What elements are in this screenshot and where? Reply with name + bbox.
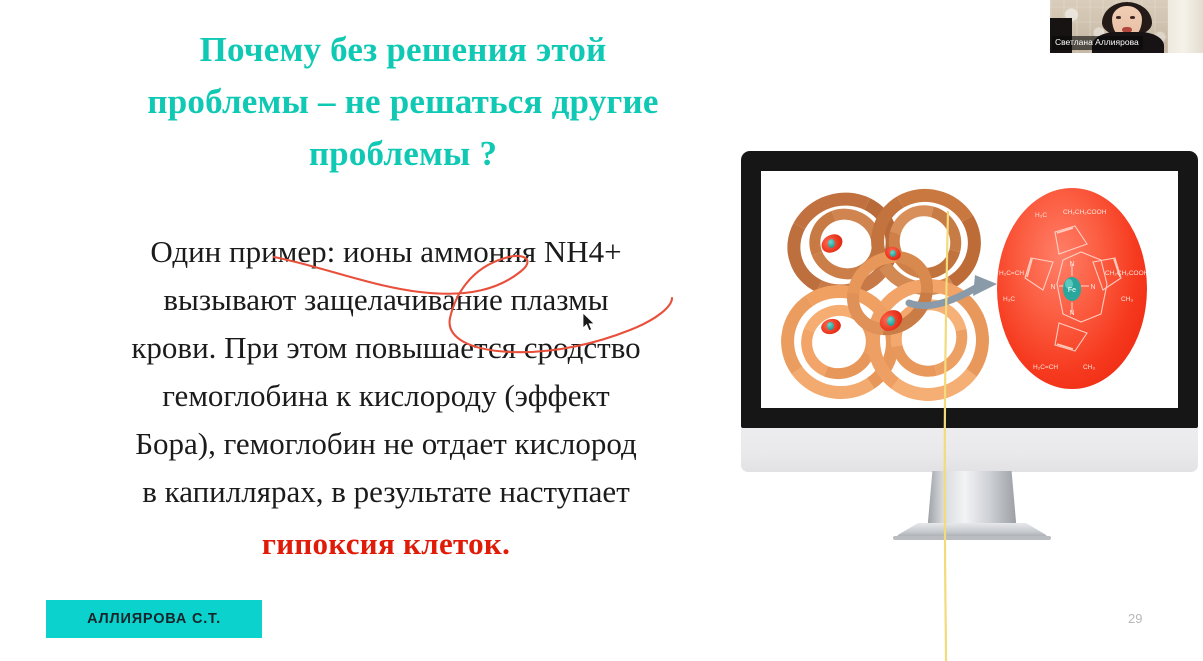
body-line-6: в капиллярах, в результате наступает [36, 468, 736, 516]
webcam-participant-tile[interactable]: Светлана Аллиярова [1050, 0, 1203, 53]
monitor-stand-foot-edge [893, 536, 1051, 540]
body-line-1: Один пример: ионы аммония NH4+ [36, 228, 736, 276]
presenter-name-badge-label: АЛЛИЯРОВА С.Т. [87, 611, 221, 627]
svg-text:N: N [1090, 284, 1095, 291]
body-highlight-hypoxia: гипоксия клеток. [36, 520, 736, 568]
webcam-person-eye-right [1130, 16, 1135, 19]
body-line-3: крови. При этом повышается сродство [36, 324, 736, 372]
slide-page-number: 29 [1128, 611, 1142, 626]
svg-text:CH₃: CH₃ [1083, 364, 1095, 371]
monitor-chin [741, 428, 1198, 472]
blowup-arrow-icon [905, 269, 1003, 311]
svg-text:CH₂CH₂COOH: CH₂CH₂COOH [1105, 270, 1147, 277]
iron-center-2 [890, 250, 896, 257]
iron-center-4 [887, 316, 895, 326]
mouse-cursor-icon [582, 312, 596, 332]
svg-text:CH₂CH₂COOH: CH₂CH₂COOH [1063, 209, 1107, 216]
body-line-4: гемоглобина к кислороду (эффект [36, 372, 736, 420]
svg-text:Fe: Fe [1068, 287, 1076, 294]
monitor-illustration: N N N N Fe H₃C CH₂CH₂COOH CH₂CH₂COOH CH₃ [741, 151, 1198, 541]
body-line-2: вызывают защелачивание плазмы [36, 276, 736, 324]
svg-text:N: N [1069, 261, 1074, 268]
svg-text:N: N [1050, 284, 1055, 291]
slide-title-line-2: проблемы – не решаться другие [58, 76, 748, 128]
webcam-participant-name-label: Светлана Аллиярова [1052, 36, 1143, 50]
svg-text:H₂C=CH: H₂C=CH [999, 270, 1024, 277]
body-line-5: Бора), гемоглобин не отдает кислород [36, 420, 736, 468]
slide-title: Почему без решения этой проблемы – не ре… [58, 24, 748, 180]
presentation-slide: Почему без решения этой проблемы – не ре… [0, 0, 1203, 661]
svg-text:N: N [1069, 310, 1074, 317]
presenter-name-badge: АЛЛИЯРОВА С.Т. [46, 600, 262, 638]
slide-title-line-1: Почему без решения этой [58, 24, 748, 76]
iron-center-1 [828, 239, 835, 248]
svg-text:CH₃: CH₃ [1121, 296, 1133, 303]
heme-structure-diagram: N N N N Fe H₃C CH₂CH₂COOH CH₂CH₂COOH CH₃ [997, 188, 1147, 389]
svg-text:H₃C: H₃C [1003, 296, 1015, 303]
slide-title-line-3: проблемы ? [58, 128, 748, 180]
iron-center-3 [827, 322, 834, 330]
webcam-person-eye-left [1116, 16, 1121, 19]
slide-body-text: Один пример: ионы аммония NH4+ вызывают … [36, 228, 736, 568]
svg-text:H₂C=CH: H₂C=CH [1033, 364, 1058, 371]
red-blood-cell-blowup: N N N N Fe H₃C CH₂CH₂COOH CH₂CH₂COOH CH₃ [997, 188, 1147, 389]
webcam-background-doorframe [1168, 0, 1203, 53]
svg-text:H₃C: H₃C [1035, 212, 1047, 219]
monitor-screen: N N N N Fe H₃C CH₂CH₂COOH CH₂CH₂COOH CH₃ [761, 171, 1178, 408]
